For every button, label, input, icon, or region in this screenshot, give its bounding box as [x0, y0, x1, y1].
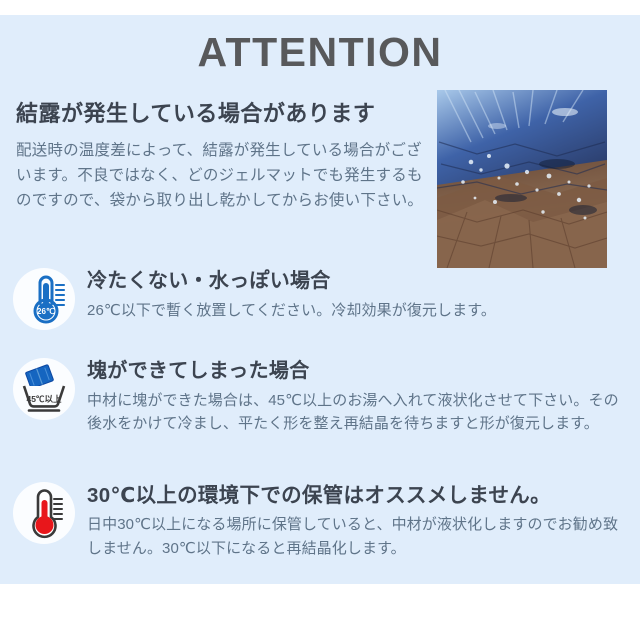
section-heat-heading: 30℃以上の環境下での保管はオススメしません。 — [87, 483, 627, 509]
section-cold-text: 冷たくない・水っぽい場合 26℃以下で暫く放置してください。冷却効果が復元します… — [87, 268, 627, 322]
gel-mat-photo — [437, 90, 607, 268]
svg-text:45℃以上: 45℃以上 — [27, 394, 62, 404]
section-cold-watery: 26℃ 冷たくない・水っぽい場合 26℃以下で暫く放置してください。冷却効果が復… — [13, 268, 627, 330]
section-heat-body: 日中30℃以上になる場所に保管していると、中材が液状化しますのでお勧め致しません… — [87, 513, 627, 560]
attention-banner: ATTENTION 結露が発生している場合があります 配送時の温度差によって、結… — [0, 0, 640, 620]
section-lump-text: 塊ができてしまった場合 中材に塊ができた場合は、45℃以上のお湯へ入れて液状化さ… — [87, 358, 627, 435]
svg-text:26℃: 26℃ — [37, 307, 55, 316]
section-cold-heading: 冷たくない・水っぽい場合 — [87, 269, 627, 295]
section-lump: 45℃以上 塊ができてしまった場合 中材に塊ができた場合は、45℃以上のお湯へ入… — [13, 358, 627, 435]
condensation-block: 結露が発生している場合があります 配送時の温度差によって、結露が発生している場合… — [16, 100, 428, 213]
section-lump-body: 中材に塊ができた場合は、45℃以上のお湯へ入れて液状化させて下さい。その後水をか… — [87, 389, 627, 436]
page-title: ATTENTION — [0, 32, 640, 73]
section-heat-storage: 30℃以上の環境下での保管はオススメしません。 日中30℃以上になる場所に保管し… — [13, 482, 627, 560]
condensation-body: 配送時の温度差によって、結露が発生している場合がございます。不良ではなく、どのジ… — [16, 138, 428, 213]
section-heat-text: 30℃以上の環境下での保管はオススメしません。 日中30℃以上になる場所に保管し… — [87, 482, 627, 560]
section-cold-body: 26℃以下で暫く放置してください。冷却効果が復元します。 — [87, 299, 627, 322]
condensation-heading: 結露が発生している場合があります — [16, 100, 428, 128]
red-thermometer-icon — [13, 482, 75, 544]
wash-tub-icon: 45℃以上 — [13, 358, 75, 420]
blue-thermometer-icon: 26℃ — [13, 268, 75, 330]
section-lump-heading: 塊ができてしまった場合 — [87, 359, 627, 385]
